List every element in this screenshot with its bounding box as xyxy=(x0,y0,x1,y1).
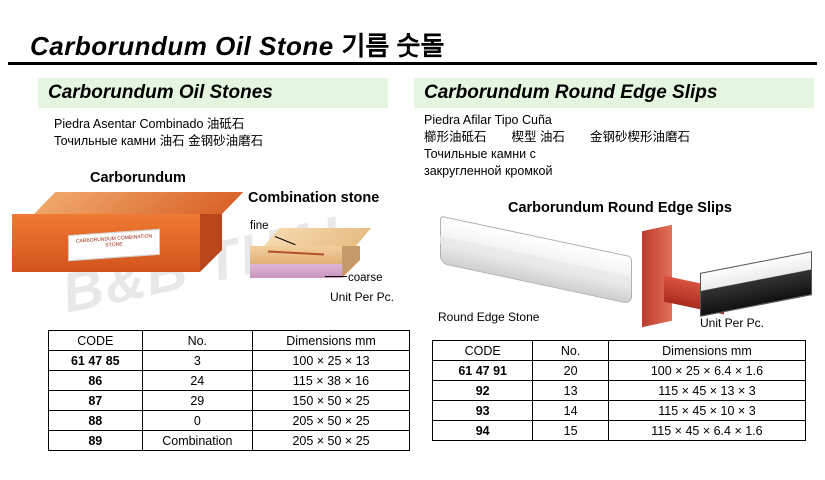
cell-no: 0 xyxy=(142,411,253,431)
right-section-banner-label: Carborundum Round Edge Slips xyxy=(424,82,717,104)
label-fine: fine xyxy=(250,220,269,232)
table-header-row: CODE No. Dimensions mm xyxy=(433,341,806,361)
page-title-en: Carborundum Oil Stone xyxy=(30,31,334,61)
left-subtitle-block: Piedra Asentar Combinado 油砥石 Точильные к… xyxy=(54,116,263,150)
cell-dim: 115 × 45 × 10 × 3 xyxy=(608,401,805,421)
label-unit-per-pc-left: Unit Per Pc. xyxy=(330,290,394,304)
left-section-banner: Carborundum Oil Stones xyxy=(38,78,388,108)
left-subtitle-line-1: Piedra Asentar Combinado 油砥石 xyxy=(54,116,263,133)
left-subtitle-line-2: Точильные камни 油石 金钢砂油磨石 xyxy=(54,133,263,150)
combination-stone-illustration xyxy=(250,228,360,298)
stone-top-face xyxy=(34,192,243,214)
coarse-leader-line xyxy=(325,276,347,277)
table-row: 61 47 85 3 100 × 25 × 13 xyxy=(49,351,410,371)
table-row: 92 13 115 × 45 × 13 × 3 xyxy=(433,381,806,401)
cell-no: 15 xyxy=(533,421,609,441)
stone-side-face xyxy=(200,214,222,272)
right-subtitle-block: Piedra Afilar Tipo Cuña 櫛形油砥石 楔型 油石 金钢砂楔… xyxy=(424,112,690,180)
cell-code: 86 xyxy=(49,371,143,391)
cell-code: 61 47 85 xyxy=(49,351,143,371)
right-subtitle-line-3: Точильные камни с xyxy=(424,146,690,163)
table-header-row: CODE No. Dimensions mm xyxy=(49,331,410,351)
cell-dim: 150 × 50 × 25 xyxy=(253,391,410,411)
cell-dim: 205 × 50 × 25 xyxy=(253,431,410,451)
cell-dim: 100 × 25 × 6.4 × 1.6 xyxy=(608,361,805,381)
header-no: No. xyxy=(142,331,253,351)
cell-code: 94 xyxy=(433,421,533,441)
table-row: 94 15 115 × 45 × 6.4 × 1.6 xyxy=(433,421,806,441)
page-title-kr: 기름 숫돌 xyxy=(341,31,444,61)
table-row: 93 14 115 × 45 × 10 × 3 xyxy=(433,401,806,421)
combo-fine-layer xyxy=(250,246,342,264)
right-subtitle-line-1: Piedra Afilar Tipo Cuña xyxy=(424,112,690,129)
cell-code: 89 xyxy=(49,431,143,451)
caption-carborundum: Carborundum xyxy=(90,170,186,186)
cell-no: 13 xyxy=(533,381,609,401)
combo-top-face xyxy=(264,228,371,246)
cell-dim: 115 × 45 × 13 × 3 xyxy=(608,381,805,401)
label-coarse: coarse xyxy=(348,272,383,284)
table-row: 61 47 91 20 100 × 25 × 6.4 × 1.6 xyxy=(433,361,806,381)
left-section-banner-label: Carborundum Oil Stones xyxy=(48,82,273,104)
header-dimensions: Dimensions mm xyxy=(608,341,805,361)
header-dimensions: Dimensions mm xyxy=(253,331,410,351)
cell-dim: 115 × 45 × 6.4 × 1.6 xyxy=(608,421,805,441)
label-unit-per-pc-right: Unit Per Pc. xyxy=(700,316,764,330)
cell-code: 87 xyxy=(49,391,143,411)
header-divider xyxy=(8,62,817,65)
cell-code: 93 xyxy=(433,401,533,421)
right-subtitle-line-4: закругленной кромкой xyxy=(424,163,690,180)
cell-no: 14 xyxy=(533,401,609,421)
oil-stones-table: CODE No. Dimensions mm 61 47 85 3 100 × … xyxy=(48,330,410,451)
cell-dim: 205 × 50 × 25 xyxy=(253,411,410,431)
header-code: CODE xyxy=(49,331,143,351)
cell-code: 88 xyxy=(49,411,143,431)
cell-dim: 115 × 38 × 16 xyxy=(253,371,410,391)
label-round-edge-stone: Round Edge Stone xyxy=(438,310,539,324)
caption-combination-stone: Combination stone xyxy=(248,190,379,206)
cell-no: 20 xyxy=(533,361,609,381)
cell-no: 24 xyxy=(142,371,253,391)
cell-no: 29 xyxy=(142,391,253,411)
header-code: CODE xyxy=(433,341,533,361)
carborundum-stone-illustration: CARBORUNDUM COMBINATION STONE xyxy=(12,192,222,288)
caption-round-edge-slips: Carborundum Round Edge Slips xyxy=(508,200,732,216)
table-row: 86 24 115 × 38 × 16 xyxy=(49,371,410,391)
cell-dim: 100 × 25 × 13 xyxy=(253,351,410,371)
header-no: No. xyxy=(533,341,609,361)
table-row: 87 29 150 × 50 × 25 xyxy=(49,391,410,411)
right-subtitle-line-2: 櫛形油砥石 楔型 油石 金钢砂楔形油磨石 xyxy=(424,129,690,146)
table-row: 89 Combination 205 × 50 × 25 xyxy=(49,431,410,451)
table-row: 88 0 205 × 50 × 25 xyxy=(49,411,410,431)
round-edge-stone-illustration xyxy=(440,236,630,312)
cell-code: 61 47 91 xyxy=(433,361,533,381)
page-title: Carborundum Oil Stone 기름 숫돌 xyxy=(30,26,444,63)
catalog-page: Carborundum Oil Stone 기름 숫돌 Carborundum … xyxy=(0,0,825,480)
right-section-banner: Carborundum Round Edge Slips xyxy=(414,78,814,108)
cell-code: 92 xyxy=(433,381,533,401)
cell-no: Combination xyxy=(142,431,253,451)
round-edge-slips-table: CODE No. Dimensions mm 61 47 91 20 100 ×… xyxy=(432,340,806,441)
cell-no: 3 xyxy=(142,351,253,371)
